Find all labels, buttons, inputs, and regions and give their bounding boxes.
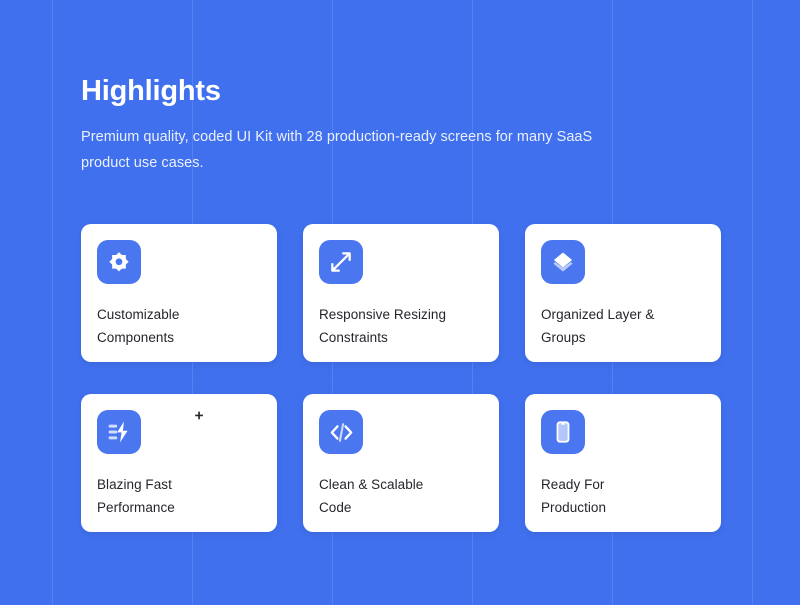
mobile-device-icon: [541, 410, 585, 454]
page-subtitle: Premium quality, coded UI Kit with 28 pr…: [81, 124, 606, 176]
card-label: Organized Layer &Groups: [541, 303, 709, 349]
card-label-line1: Clean & Scalable: [319, 477, 423, 492]
layers-icon: [541, 240, 585, 284]
highlights-page: Highlights Premium quality, coded UI Kit…: [0, 0, 800, 605]
guide-line-5: [752, 0, 753, 605]
card-label-line1: Customizable: [97, 307, 179, 322]
highlight-card[interactable]: Organized Layer &Groups: [525, 224, 721, 362]
lightning-bolt-icon: [97, 410, 141, 454]
card-label-line2: Performance: [97, 500, 175, 515]
card-label: Responsive ResizingConstraints: [319, 303, 487, 349]
guide-line-0: [52, 0, 53, 605]
highlight-card[interactable]: Ready ForProduction: [525, 394, 721, 532]
highlight-card-grid: CustomizableComponents Responsive Resizi…: [81, 224, 721, 532]
card-label-line2: Groups: [541, 330, 586, 345]
card-label: CustomizableComponents: [97, 303, 265, 349]
code-brackets-icon: [319, 410, 363, 454]
card-label-line2: Production: [541, 500, 606, 515]
card-label: Ready ForProduction: [541, 473, 709, 519]
card-label: Clean & ScalableCode: [319, 473, 487, 519]
header-block: Highlights Premium quality, coded UI Kit…: [81, 74, 641, 176]
page-title: Highlights: [81, 74, 641, 108]
gear-icon: [97, 240, 141, 284]
highlight-card[interactable]: Blazing FastPerformance: [81, 394, 277, 532]
card-label-line2: Constraints: [319, 330, 388, 345]
card-label-line1: Organized Layer &: [541, 307, 654, 322]
highlight-card[interactable]: CustomizableComponents: [81, 224, 277, 362]
card-label-line2: Components: [97, 330, 174, 345]
highlight-card[interactable]: Clean & ScalableCode: [303, 394, 499, 532]
card-label-line1: Ready For: [541, 477, 604, 492]
card-label-line1: Responsive Resizing: [319, 307, 446, 322]
card-label-line2: Code: [319, 500, 351, 515]
card-label: Blazing FastPerformance: [97, 473, 265, 519]
expand-arrow-icon: [319, 240, 363, 284]
card-label-line1: Blazing Fast: [97, 477, 172, 492]
highlight-card[interactable]: Responsive ResizingConstraints: [303, 224, 499, 362]
